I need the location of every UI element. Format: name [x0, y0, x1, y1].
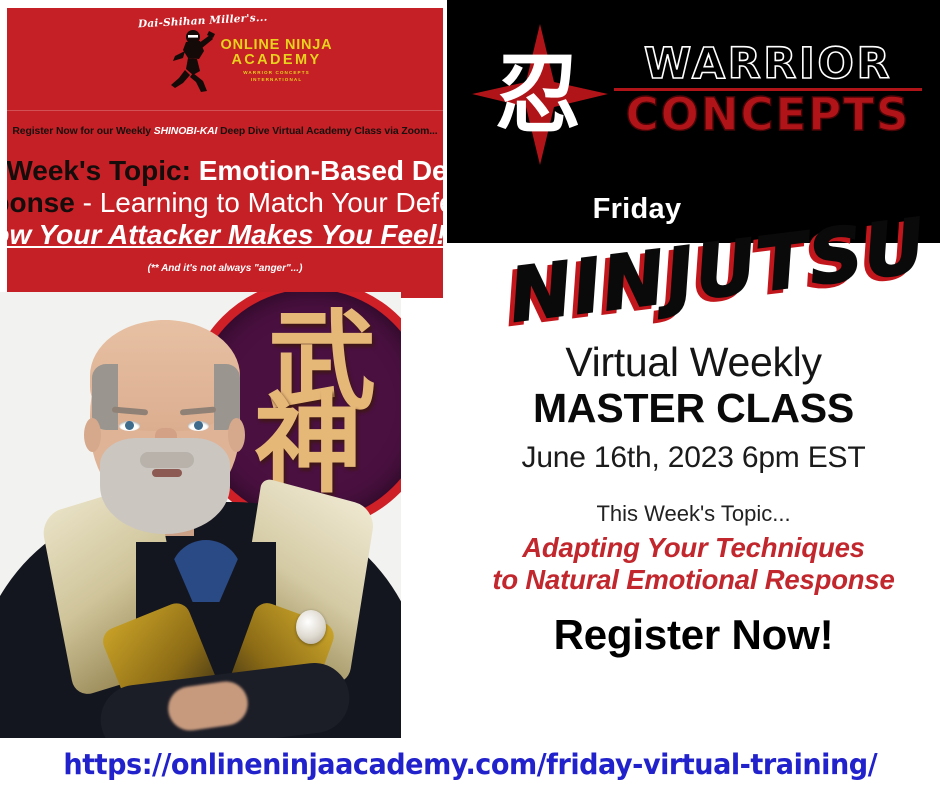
promo-register-line: Register Now for our Weekly SHINOBI-KAI … [7, 126, 443, 137]
ninja-star-kanji-icon: 忍 [470, 22, 610, 167]
registration-url-bar[interactable]: https://onlineninjaacademy.com/friday-vi… [0, 740, 940, 788]
ear-left [84, 418, 101, 452]
promo-topic-line-1: This Week's Topic: Emotion-Based Defense [7, 156, 443, 186]
promo-card: Dai-Shihan Miller's... O [7, 8, 443, 298]
topic-line-2: to Natural Emotional Response [447, 564, 940, 596]
iris-right [194, 421, 203, 430]
promo-topic-line-3: to How Your Attacker Makes You Feel! [7, 220, 443, 250]
logo-name-line2: ACADEMY [214, 53, 339, 68]
warrior-concepts-logo: 忍 WARRIOR CONCEPTS [470, 22, 922, 167]
wordmark-concepts: CONCEPTS [614, 93, 922, 137]
promo-footnote: (** And it's not always "anger"...) [7, 263, 443, 274]
promo-topic-line-2: Response - Learning to Match Your Defens… [7, 188, 443, 218]
instructor-portrait: 武 神 [0, 292, 401, 738]
logo-text-block: ONLINE NINJA ACADEMY WARRIOR CONCEPTS IN… [214, 38, 339, 83]
promo-register-emphasis: SHINOBI-KAI [154, 126, 218, 137]
promo-register-prefix: Register Now for our Weekly [12, 126, 153, 137]
promo-topic-1-white: Emotion-Based Defense [199, 155, 443, 186]
promo-topic-1-dark: This Week's Topic: [7, 155, 191, 186]
promo-logo-band: Dai-Shihan Miller's... O [7, 8, 443, 111]
wordmark: WARRIOR CONCEPTS [614, 44, 922, 137]
ear-right [228, 418, 245, 452]
online-ninja-academy-logo: Dai-Shihan Miller's... O [110, 13, 340, 105]
patch-kanji-bottom: 神 [254, 402, 356, 491]
mouth [152, 469, 182, 477]
logo-name-line1: ONLINE NINJA [214, 38, 339, 53]
mustache [140, 452, 194, 468]
promo-topic-2-dark: Response [7, 187, 75, 218]
promotional-poster: 忍 WARRIOR CONCEPTS Friday Dai-Shihan Mil… [0, 0, 940, 788]
logo-sub-line1: WARRIOR CONCEPTS [214, 70, 339, 77]
wordmark-warrior: WARRIOR [614, 44, 922, 85]
head [90, 320, 240, 512]
topic-line-1: Adapting Your Techniques [447, 532, 940, 564]
header-banner: 忍 WARRIOR CONCEPTS Friday [447, 0, 940, 243]
promo-topic-3-emphasis: How Your Attacker Makes You Feel! [7, 219, 443, 250]
registration-url[interactable]: https://onlineninjaacademy.com/friday-vi… [63, 748, 877, 781]
ninja-silhouette-icon [166, 25, 216, 93]
logo-sub-line2: INTERNATIONAL [214, 77, 339, 84]
class-subtitle: Virtual Weekly [447, 340, 940, 386]
iris-left [125, 421, 134, 430]
beard [100, 438, 230, 534]
class-datetime: June 16th, 2023 6pm EST [447, 441, 940, 475]
topic-intro-label: This Week's Topic... [447, 501, 940, 527]
svg-text:忍: 忍 [495, 45, 581, 145]
class-title: MASTER CLASS [447, 386, 940, 432]
promo-register-suffix: Deep Dive Virtual Academy Class via Zoom… [217, 126, 437, 137]
promo-topic-2-white: - Learning to Match Your Defense [83, 187, 443, 218]
register-now-cta[interactable]: Register Now! [447, 611, 940, 659]
gi-knot [296, 610, 326, 644]
class-details: Virtual Weekly MASTER CLASS June 16th, 2… [447, 340, 940, 659]
ninjutsu-headline: NINJUTSU NINJUTSU [508, 234, 928, 330]
